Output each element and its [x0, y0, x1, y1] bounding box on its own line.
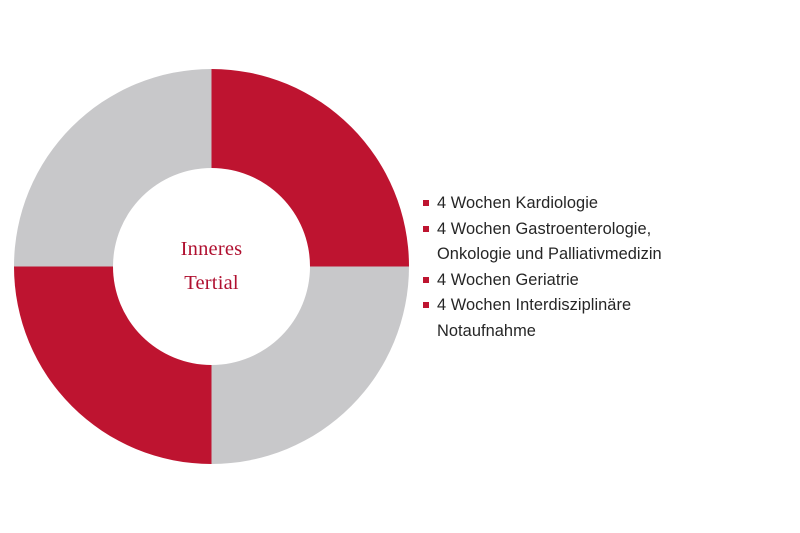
legend-item-label: 4 Wochen Interdisziplinäre Notaufnahme [437, 293, 752, 344]
chart-legend: 4 Wochen Kardiologie 4 Wochen Gastroente… [422, 191, 752, 345]
legend-item-notaufnahme[interactable]: 4 Wochen Interdisziplinäre Notaufnahme [422, 293, 752, 344]
donut-chart [14, 69, 409, 464]
legend-item-kardiologie[interactable]: 4 Wochen Kardiologie [422, 191, 752, 217]
legend-item-label: 4 Wochen Gastroenterologie, Onkologie un… [437, 217, 752, 268]
legend-bullet-icon [423, 226, 429, 232]
legend-bullet-icon [423, 200, 429, 206]
legend-bullet-icon [423, 277, 429, 283]
slide-canvas: Inneres Tertial 4 Wochen Kardiologie 4 W… [0, 0, 800, 533]
legend-item-label: 4 Wochen Geriatrie [437, 268, 752, 294]
legend-item-gastroenterologie[interactable]: 4 Wochen Gastroenterologie, Onkologie un… [422, 217, 752, 268]
legend-bullet-icon [423, 302, 429, 308]
donut-hole [113, 168, 310, 365]
legend-item-label: 4 Wochen Kardiologie [437, 191, 752, 217]
legend-item-geriatrie[interactable]: 4 Wochen Geriatrie [422, 268, 752, 294]
